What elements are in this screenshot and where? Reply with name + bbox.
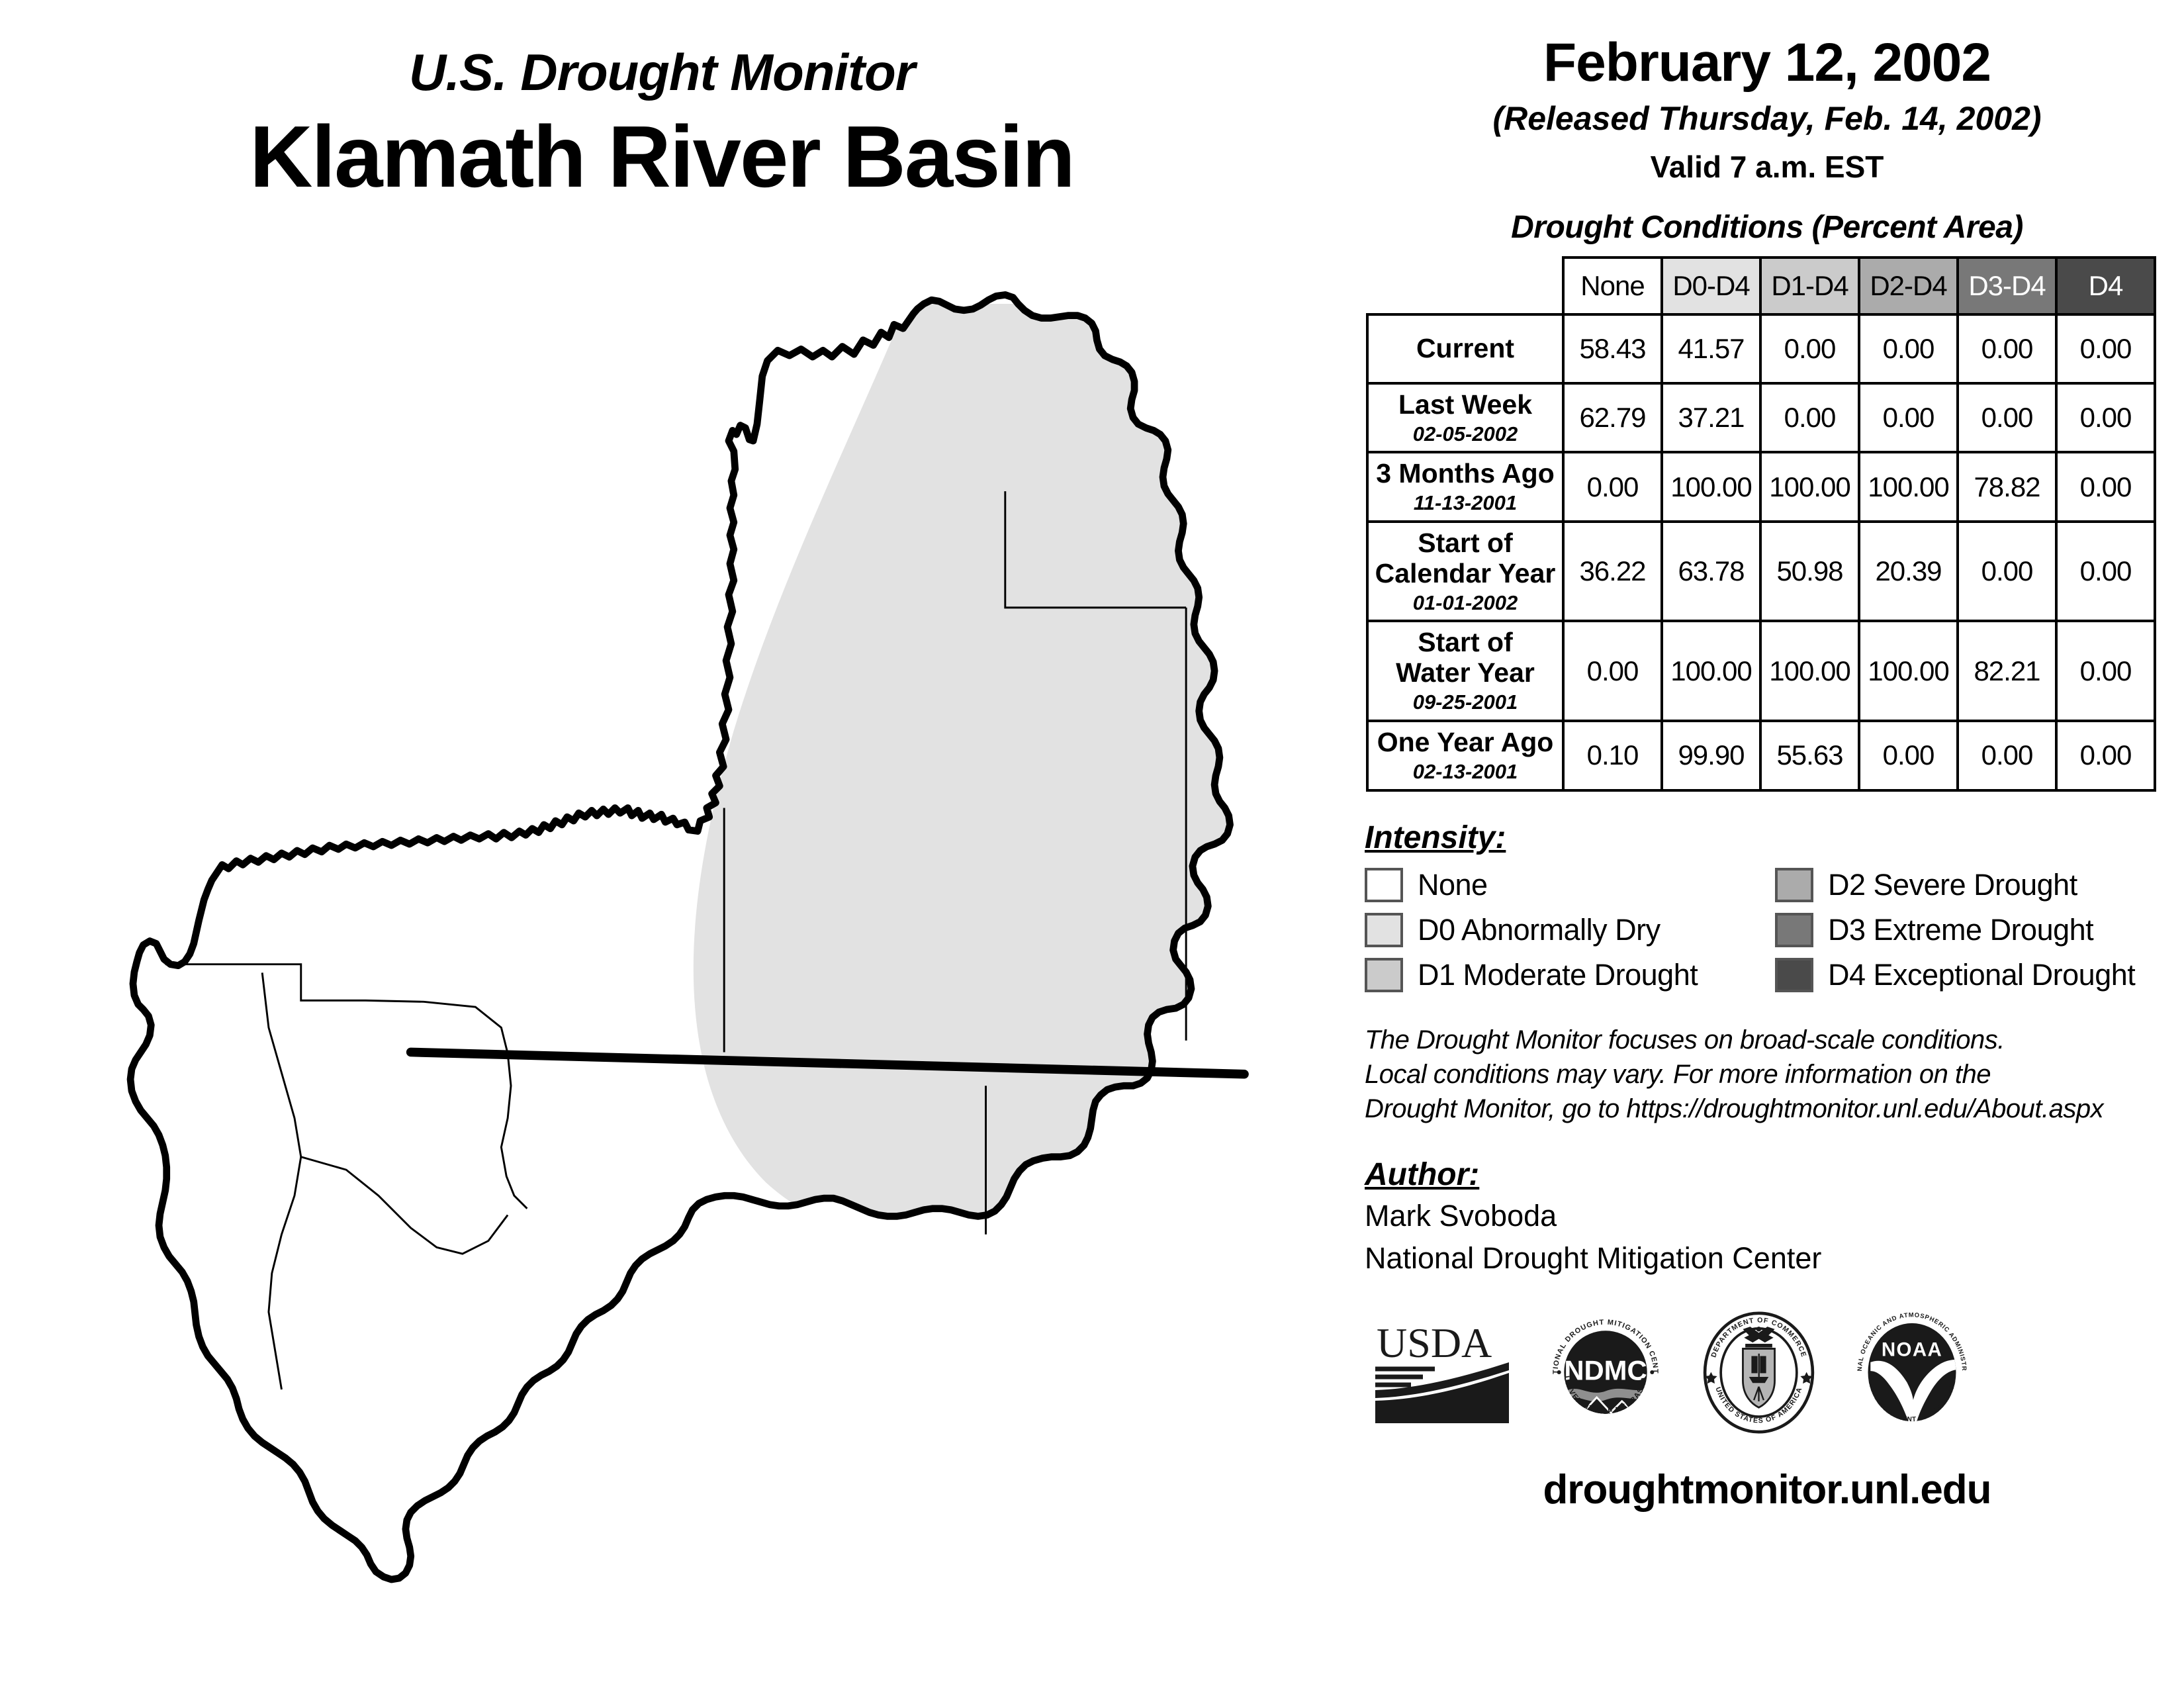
- swatch-d3-icon: [1775, 913, 1813, 947]
- column-header-d3-d4: D3-D4: [1958, 258, 2056, 314]
- column-header-d4: D4: [2056, 258, 2155, 314]
- table-header-row: None D0-D4 D1-D4 D2-D4 D3-D4 D4: [1367, 258, 2155, 314]
- swatch-d0-icon: [1365, 913, 1403, 947]
- cell-3months-d1d4: 100.00: [1760, 452, 1859, 522]
- legend-label: D2 Severe Drought: [1828, 868, 2077, 902]
- swatch-none-icon: [1365, 868, 1403, 902]
- cell-oneyear-d1d4: 55.63: [1760, 721, 1859, 790]
- cell-3months-none: 0.00: [1563, 452, 1662, 522]
- row-label-current: Current: [1367, 314, 1563, 383]
- drought-monitor-page: U.S. Drought Monitor Klamath River Basin: [0, 0, 2184, 1688]
- intensity-legend: None D2 Severe Drought D0 Abnormally Dry…: [1365, 868, 2159, 992]
- legend-item-d0: D0 Abnormally Dry: [1365, 913, 1775, 947]
- row-label-start-water-year: Start ofWater Year 09-25-2001: [1367, 621, 1563, 721]
- row-label-3-months-ago: 3 Months Ago 11-13-2001: [1367, 452, 1563, 522]
- cell-3months-d0d4: 100.00: [1662, 452, 1760, 522]
- table-row: Current 58.43 41.57 0.00 0.00 0.00 0.00: [1367, 314, 2155, 383]
- legend-item-d3: D3 Extreme Drought: [1775, 913, 2184, 947]
- intensity-heading: Intensity:: [1365, 820, 1506, 856]
- row-period-name: Current: [1416, 333, 1514, 363]
- cell-lastweek-d1d4: 0.00: [1760, 383, 1859, 453]
- column-header-d2-d4: D2-D4: [1859, 258, 1958, 314]
- cell-calyear-d1d4: 50.98: [1760, 522, 1859, 622]
- ndmc-acronym: NDMC: [1564, 1355, 1647, 1386]
- cell-lastweek-d0d4: 37.21: [1662, 383, 1760, 453]
- table-row: One Year Ago 02-13-2001 0.10 99.90 55.63…: [1367, 721, 2155, 790]
- row-period-name: 3 Months Ago: [1376, 458, 1555, 489]
- swatch-d2-icon: [1775, 868, 1813, 902]
- table-row: Start ofCalendar Year 01-01-2002 36.22 6…: [1367, 522, 2155, 622]
- row-label-start-calendar-year: Start ofCalendar Year 01-01-2002: [1367, 522, 1563, 622]
- author-name: Mark Svoboda: [1365, 1197, 2184, 1236]
- cell-lastweek-d3d4: 0.00: [1958, 383, 2056, 453]
- cell-wateryear-d0d4: 100.00: [1662, 621, 1760, 721]
- swatch-d1-icon: [1365, 958, 1403, 992]
- column-header-d1-d4: D1-D4: [1760, 258, 1859, 314]
- cell-wateryear-d2d4: 100.00: [1859, 621, 1958, 721]
- map-title-block: U.S. Drought Monitor Klamath River Basin: [0, 46, 1324, 203]
- row-period-date: 02-05-2002: [1373, 423, 1558, 446]
- klamath-basin-map[interactable]: [73, 278, 1330, 1635]
- column-header-none: None: [1563, 258, 1662, 314]
- row-period-name: Start ofCalendar Year: [1375, 528, 1556, 588]
- right-panel: February 12, 2002 (Released Thursday, Fe…: [1350, 0, 2184, 1688]
- author-organization: National Drought Mitigation Center: [1365, 1239, 2184, 1278]
- legend-label: D3 Extreme Drought: [1828, 913, 2093, 947]
- legend-item-d1: D1 Moderate Drought: [1365, 958, 1775, 992]
- cell-wateryear-d1d4: 100.00: [1760, 621, 1859, 721]
- cell-current-d0d4: 41.57: [1662, 314, 1760, 383]
- table-row: Start ofWater Year 09-25-2001 0.00 100.0…: [1367, 621, 2155, 721]
- disclaimer-text: The Drought Monitor focuses on broad-sca…: [1365, 1023, 2165, 1126]
- drought-conditions-table: None D0-D4 D1-D4 D2-D4 D3-D4 D4 Current …: [1366, 256, 2156, 792]
- column-header-d0-d4: D0-D4: [1662, 258, 1760, 314]
- cell-current-none: 58.43: [1563, 314, 1662, 383]
- cell-oneyear-d4: 0.00: [2056, 721, 2155, 790]
- row-period-name: One Year Ago: [1377, 727, 1554, 757]
- cell-3months-d2d4: 100.00: [1859, 452, 1958, 522]
- cell-calyear-d3d4: 0.00: [1958, 522, 2056, 622]
- disclaimer-line-3[interactable]: Drought Monitor, go to https://droughtmo…: [1365, 1092, 2165, 1126]
- date-block: February 12, 2002 (Released Thursday, Fe…: [1350, 0, 2184, 184]
- noaa-logo: NOAA NATIONAL OCEANIC AND ATMOSPHERIC AD…: [1849, 1308, 1975, 1440]
- row-period-date: 09-25-2001: [1373, 691, 1558, 714]
- noaa-acronym: NOAA: [1882, 1338, 1942, 1360]
- table-corner-cell: [1367, 258, 1563, 314]
- author-heading: Author:: [1365, 1156, 1479, 1193]
- cell-wateryear-none: 0.00: [1563, 621, 1662, 721]
- cell-lastweek-d4: 0.00: [2056, 383, 2155, 453]
- disclaimer-line-1: The Drought Monitor focuses on broad-sca…: [1365, 1023, 2165, 1057]
- release-date: (Released Thursday, Feb. 14, 2002): [1350, 101, 2184, 137]
- row-period-date: 11-13-2001: [1373, 492, 1558, 515]
- cell-3months-d3d4: 78.82: [1958, 452, 2056, 522]
- ndmc-logo: NDMC NATIONAL DROUGHT MITIGATION CENTER …: [1543, 1309, 1668, 1438]
- cell-calyear-none: 36.22: [1563, 522, 1662, 622]
- cell-oneyear-d2d4: 0.00: [1859, 721, 1958, 790]
- disclaimer-line-2: Local conditions may vary. For more info…: [1365, 1057, 2165, 1092]
- site-url[interactable]: droughtmonitor.unl.edu: [1350, 1466, 2184, 1513]
- legend-item-d4: D4 Exceptional Drought: [1775, 958, 2184, 992]
- logo-row: USDA: [1357, 1305, 2171, 1444]
- cell-calyear-d2d4: 20.39: [1859, 522, 1958, 622]
- cell-current-d4: 0.00: [2056, 314, 2155, 383]
- legend-label: None: [1418, 868, 1488, 902]
- table-body: Current 58.43 41.57 0.00 0.00 0.00 0.00 …: [1367, 314, 2155, 790]
- row-period-date: 01-01-2002: [1373, 592, 1558, 615]
- legend-label: D1 Moderate Drought: [1418, 958, 1698, 992]
- usda-logo: USDA: [1371, 1316, 1514, 1432]
- cell-lastweek-d2d4: 0.00: [1859, 383, 1958, 453]
- svg-text:USDA: USDA: [1377, 1319, 1492, 1366]
- cell-calyear-d4: 0.00: [2056, 522, 2155, 622]
- page-title: Klamath River Basin: [0, 111, 1324, 203]
- issue-date: February 12, 2002: [1350, 34, 2184, 91]
- row-label-one-year-ago: One Year Ago 02-13-2001: [1367, 721, 1563, 790]
- table-caption: Drought Conditions (Percent Area): [1350, 209, 2184, 246]
- row-label-last-week: Last Week 02-05-2002: [1367, 383, 1563, 453]
- cell-wateryear-d4: 0.00: [2056, 621, 2155, 721]
- cell-oneyear-none: 0.10: [1563, 721, 1662, 790]
- basin-map-svg[interactable]: [73, 278, 1330, 1635]
- product-name: U.S. Drought Monitor: [0, 46, 1324, 98]
- valid-time: Valid 7 a.m. EST: [1350, 150, 2184, 184]
- cell-lastweek-none: 62.79: [1563, 383, 1662, 453]
- cell-wateryear-d3d4: 82.21: [1958, 621, 2056, 721]
- row-period-name: Last Week: [1398, 389, 1532, 420]
- cell-calyear-d0d4: 63.78: [1662, 522, 1760, 622]
- legend-label: D0 Abnormally Dry: [1418, 913, 1661, 947]
- doc-seal: DEPARTMENT OF COMMERCE UNITED STATES OF …: [1698, 1308, 1820, 1440]
- legend-item-d2: D2 Severe Drought: [1775, 868, 2184, 902]
- cell-current-d2d4: 0.00: [1859, 314, 1958, 383]
- cell-current-d3d4: 0.00: [1958, 314, 2056, 383]
- cell-oneyear-d3d4: 0.00: [1958, 721, 2056, 790]
- legend-label: D4 Exceptional Drought: [1828, 958, 2135, 992]
- table-row: 3 Months Ago 11-13-2001 0.00 100.00 100.…: [1367, 452, 2155, 522]
- cell-3months-d4: 0.00: [2056, 452, 2155, 522]
- cell-current-d1d4: 0.00: [1760, 314, 1859, 383]
- row-period-name: Start ofWater Year: [1396, 627, 1535, 688]
- cell-oneyear-d0d4: 99.90: [1662, 721, 1760, 790]
- swatch-d4-icon: [1775, 958, 1813, 992]
- legend-item-none: None: [1365, 868, 1775, 902]
- table-row: Last Week 02-05-2002 62.79 37.21 0.00 0.…: [1367, 383, 2155, 453]
- row-period-date: 02-13-2001: [1373, 761, 1558, 784]
